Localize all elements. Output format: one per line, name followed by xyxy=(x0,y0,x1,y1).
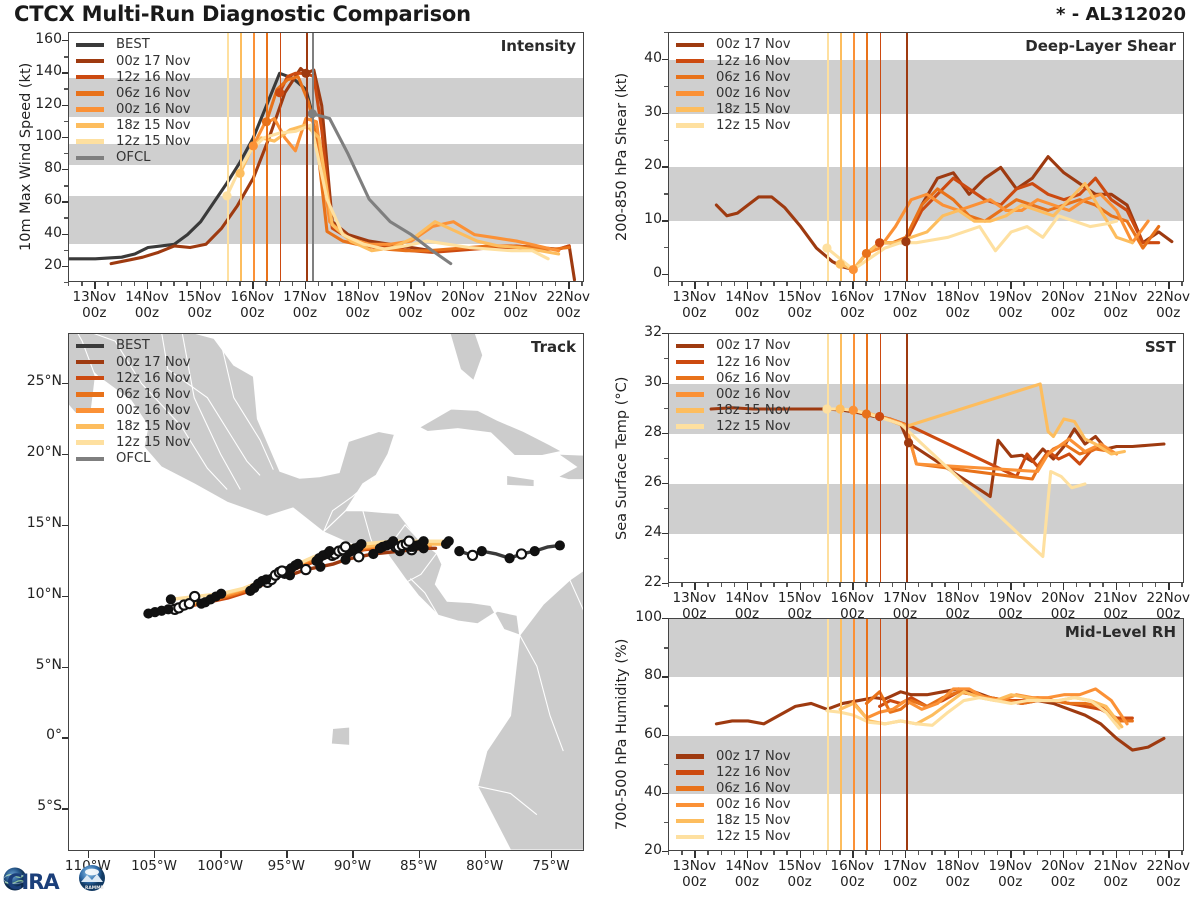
x-minor-tick xyxy=(1023,282,1024,286)
svg-text:RAMMB: RAMMB xyxy=(85,885,105,891)
x-minor-tick xyxy=(879,851,880,855)
x-tick-mark xyxy=(252,282,253,289)
y-minor-tick xyxy=(64,88,68,89)
legend-swatch-12z-16-nov xyxy=(76,376,104,380)
x-minor-tick xyxy=(1102,851,1103,855)
y-tick-mark xyxy=(62,234,68,235)
x-minor-tick xyxy=(134,282,135,286)
y-tick-mark xyxy=(662,59,668,60)
init-time-line xyxy=(866,33,868,281)
legend-row: 00z 16 Nov xyxy=(676,386,791,402)
x-minor-tick xyxy=(476,282,477,286)
x-minor-tick xyxy=(721,282,722,286)
legend-swatch-06z-16-nov xyxy=(676,75,704,79)
x-minor-tick xyxy=(918,282,919,286)
lat-tick-label: 0° xyxy=(12,727,62,743)
legend-label: 12z 16 Nov xyxy=(116,372,191,385)
legend-row: OFCL xyxy=(76,451,191,467)
x-minor-tick xyxy=(681,851,682,855)
panel-sst[interactable]: SST 00z 17 Nov12z 16 Nov06z 16 Nov00z 16… xyxy=(668,333,1184,583)
x-minor-tick xyxy=(1023,583,1024,587)
x-tick-mark xyxy=(1010,282,1011,289)
x-minor-tick xyxy=(1155,851,1156,855)
x-minor-tick xyxy=(668,282,669,286)
x-minor-tick xyxy=(1089,583,1090,587)
legend-label: 00z 17 Nov xyxy=(116,356,191,369)
legend-swatch-12z-15-nov xyxy=(76,440,104,444)
x-tick-mark xyxy=(1116,583,1117,590)
lon-tick-mark xyxy=(88,851,89,858)
x-tick-mark xyxy=(1168,282,1169,289)
x-tick-label: 22Nov00z xyxy=(530,290,606,322)
x-minor-tick xyxy=(918,583,919,587)
y-tick-mark xyxy=(662,433,668,434)
intensity-title: Intensity xyxy=(501,37,576,55)
panel-track[interactable]: Track BEST00z 17 Nov12z 16 Nov06z 16 Nov… xyxy=(68,333,584,851)
x-minor-tick xyxy=(707,851,708,855)
y-minor-tick xyxy=(64,217,68,218)
init-time-line xyxy=(880,619,882,850)
x-minor-tick xyxy=(292,282,293,286)
x-tick-hour: 00z xyxy=(135,305,159,321)
x-tick-hour: 00z xyxy=(945,874,969,890)
x-minor-tick xyxy=(839,583,840,587)
x-minor-tick xyxy=(68,282,69,286)
x-tick-label: 22Nov00z xyxy=(1130,859,1200,891)
x-minor-tick xyxy=(1076,282,1077,286)
legend-label: 12z 16 Nov xyxy=(716,766,791,779)
x-minor-tick xyxy=(773,282,774,286)
y-minor-tick xyxy=(664,140,668,141)
x-tick-hour: 00z xyxy=(293,305,317,321)
legend-row: 00z 16 Nov xyxy=(76,101,191,117)
x-minor-tick xyxy=(813,851,814,855)
x-minor-tick xyxy=(721,851,722,855)
x-minor-tick xyxy=(931,851,932,855)
x-tick-day: 22Nov xyxy=(546,289,590,305)
track-title: Track xyxy=(531,338,576,356)
legend-swatch-06z-16-nov xyxy=(676,376,704,380)
x-minor-tick xyxy=(734,851,735,855)
x-tick-hour: 00z xyxy=(82,305,106,321)
legend-swatch-00z-17-nov xyxy=(676,43,704,47)
lat-tick-mark xyxy=(62,525,68,526)
x-minor-tick xyxy=(1142,282,1143,286)
init-time-line xyxy=(840,619,842,850)
x-minor-tick xyxy=(997,282,998,286)
x-tick-mark xyxy=(358,282,359,289)
init-time-line xyxy=(240,33,242,281)
lon-tick-mark xyxy=(154,851,155,858)
legend-label: OFCL xyxy=(116,452,151,465)
x-minor-tick xyxy=(865,282,866,286)
legend-label: 12z 16 Nov xyxy=(716,55,791,68)
x-minor-tick xyxy=(971,583,972,587)
legend-label: 00z 17 Nov xyxy=(116,55,191,68)
panel-rh[interactable]: Mid-Level RH 00z 17 Nov12z 16 Nov06z 16 … xyxy=(668,618,1184,851)
x-minor-tick xyxy=(121,282,122,286)
legend-swatch-12z-16-nov xyxy=(676,59,704,63)
lat-tick-label: 25°N xyxy=(12,373,62,389)
legend-swatch-18z-15-nov xyxy=(676,408,704,412)
legend-swatch-00z-17-nov xyxy=(676,344,704,348)
lon-tick-label: 85°W xyxy=(381,859,457,875)
y-minor-tick xyxy=(64,121,68,122)
x-tick-hour: 00z xyxy=(893,305,917,321)
y-minor-tick xyxy=(664,32,668,33)
legend-label: 00z 17 Nov xyxy=(716,38,791,51)
legend-label: 12z 16 Nov xyxy=(116,71,191,84)
x-minor-tick xyxy=(826,851,827,855)
legend-row: 12z 15 Nov xyxy=(676,418,791,434)
x-tick-hour: 00z xyxy=(998,874,1022,890)
x-tick-hour: 00z xyxy=(787,305,811,321)
y-tick-label: 40 xyxy=(26,225,62,241)
x-minor-tick xyxy=(681,282,682,286)
legend-label: 00z 16 Nov xyxy=(716,87,791,100)
y-tick-label: 10 xyxy=(626,211,662,227)
x-minor-tick xyxy=(450,282,451,286)
x-tick-mark xyxy=(905,583,906,590)
x-minor-tick xyxy=(107,282,108,286)
rh-legend: 00z 17 Nov12z 16 Nov06z 16 Nov00z 16 Nov… xyxy=(676,748,791,845)
x-tick-mark xyxy=(694,851,695,858)
y-minor-tick xyxy=(664,247,668,248)
y-tick-label: 140 xyxy=(26,63,62,79)
x-tick-hour: 00z xyxy=(503,305,527,321)
x-minor-tick xyxy=(944,583,945,587)
x-tick-mark xyxy=(94,282,95,289)
lon-tick-label: 95°W xyxy=(248,859,324,875)
x-minor-tick xyxy=(971,851,972,855)
intensity-legend: BEST00z 17 Nov12z 16 Nov06z 16 Nov00z 16… xyxy=(76,37,191,166)
x-minor-tick xyxy=(226,282,227,286)
legend-row: BEST xyxy=(76,338,191,354)
legend-label: 06z 16 Nov xyxy=(716,71,791,84)
x-tick-hour: 00z xyxy=(1156,305,1180,321)
x-tick-label: 22Nov00z xyxy=(1130,290,1200,322)
y-tick-label: 22 xyxy=(626,574,662,590)
x-minor-tick xyxy=(542,282,543,286)
x-minor-tick xyxy=(1155,583,1156,587)
x-minor-tick xyxy=(760,851,761,855)
track-legend: BEST00z 17 Nov12z 16 Nov06z 16 Nov00z 16… xyxy=(76,338,191,467)
y-minor-tick xyxy=(664,822,668,823)
x-tick-mark xyxy=(516,282,517,289)
legend-row: 12z 15 Nov xyxy=(76,134,191,150)
y-tick-label: 0 xyxy=(626,265,662,281)
x-minor-tick xyxy=(502,282,503,286)
legend-label: 00z 17 Nov xyxy=(716,750,791,763)
legend-swatch-ofcl xyxy=(76,457,104,461)
x-tick-hour: 00z xyxy=(1051,305,1075,321)
x-tick-mark xyxy=(463,282,464,289)
sst-title: SST xyxy=(1145,338,1176,356)
lat-tick-label: 5°S xyxy=(12,798,62,814)
x-tick-hour: 00z xyxy=(893,874,917,890)
legend-label: 00z 16 Nov xyxy=(716,388,791,401)
y-tick-label: 160 xyxy=(26,31,62,47)
legend-row: 00z 17 Nov xyxy=(76,354,191,370)
lat-tick-mark xyxy=(62,454,68,455)
legend-row: 18z 15 Nov xyxy=(676,101,791,117)
legend-swatch-12z-16-nov xyxy=(76,75,104,79)
x-minor-tick xyxy=(984,282,985,286)
init-time-line xyxy=(853,334,855,582)
y-minor-tick xyxy=(664,705,668,706)
x-minor-tick xyxy=(1037,583,1038,587)
y-minor-tick xyxy=(664,193,668,194)
lon-tick-mark xyxy=(286,851,287,858)
y-minor-tick xyxy=(664,86,668,87)
legend-row: 00z 17 Nov xyxy=(676,338,791,354)
init-time-line xyxy=(227,33,229,281)
x-minor-tick xyxy=(997,583,998,587)
shear-legend: 00z 17 Nov12z 16 Nov06z 16 Nov00z 16 Nov… xyxy=(676,37,791,134)
y-tick-mark xyxy=(62,201,68,202)
sst-y-axis-label: Sea Surface Temp (°C) xyxy=(614,376,630,539)
init-time-line xyxy=(906,334,908,582)
legend-label: 12z 16 Nov xyxy=(716,356,791,369)
x-tick-mark xyxy=(905,851,906,858)
x-tick-mark xyxy=(305,282,306,289)
y-tick-label: 32 xyxy=(626,324,662,340)
y-tick-mark xyxy=(662,793,668,794)
x-minor-tick xyxy=(839,851,840,855)
x-minor-tick xyxy=(1102,282,1103,286)
y-tick-label: 100 xyxy=(26,128,62,144)
y-minor-tick xyxy=(664,408,668,409)
y-tick-mark xyxy=(662,333,668,334)
init-time-line xyxy=(866,334,868,582)
x-minor-tick xyxy=(773,583,774,587)
legend-row: 06z 16 Nov xyxy=(76,386,191,402)
legend-row: 18z 15 Nov xyxy=(676,402,791,418)
x-minor-tick xyxy=(1023,851,1024,855)
x-minor-tick xyxy=(997,851,998,855)
legend-row: 06z 16 Nov xyxy=(76,85,191,101)
x-tick-mark xyxy=(694,282,695,289)
init-time-line xyxy=(266,33,268,281)
y-tick-label: 20 xyxy=(626,842,662,858)
lon-tick-label: 105°W xyxy=(116,859,192,875)
y-minor-tick xyxy=(664,458,668,459)
legend-row: 12z 16 Nov xyxy=(76,69,191,85)
x-minor-tick xyxy=(760,282,761,286)
legend-swatch-00z-17-nov xyxy=(676,754,704,758)
x-minor-tick xyxy=(1076,583,1077,587)
x-minor-tick xyxy=(1076,851,1077,855)
x-minor-tick xyxy=(786,583,787,587)
y-tick-mark xyxy=(662,735,668,736)
x-minor-tick xyxy=(1050,851,1051,855)
x-minor-tick xyxy=(581,282,582,286)
x-minor-tick xyxy=(931,282,932,286)
x-tick-mark xyxy=(958,282,959,289)
x-tick-mark xyxy=(568,282,569,289)
legend-row: 00z 17 Nov xyxy=(676,37,791,53)
y-minor-tick xyxy=(664,358,668,359)
legend-row: 18z 15 Nov xyxy=(76,117,191,133)
x-minor-tick xyxy=(1181,282,1182,286)
x-minor-tick xyxy=(918,851,919,855)
x-minor-tick xyxy=(944,282,945,286)
y-minor-tick xyxy=(64,185,68,186)
y-tick-mark xyxy=(662,618,668,619)
lon-tick-mark xyxy=(220,851,221,858)
x-minor-tick xyxy=(865,851,866,855)
lat-tick-mark xyxy=(62,383,68,384)
legend-swatch-00z-17-nov xyxy=(76,360,104,364)
x-minor-tick xyxy=(371,282,372,286)
x-tick-mark xyxy=(1010,851,1011,858)
x-minor-tick xyxy=(931,583,932,587)
x-tick-mark xyxy=(147,282,148,289)
x-minor-tick xyxy=(1129,282,1130,286)
x-tick-mark xyxy=(410,282,411,289)
x-tick-mark xyxy=(747,282,748,289)
x-tick-mark xyxy=(694,583,695,590)
x-minor-tick xyxy=(879,583,880,587)
y-tick-label: 28 xyxy=(626,424,662,440)
lon-tick-label: 80°W xyxy=(447,859,523,875)
y-tick-label: 120 xyxy=(26,96,62,112)
init-time-line xyxy=(880,334,882,582)
legend-label: 18z 15 Nov xyxy=(716,103,791,116)
lon-tick-label: 75°W xyxy=(513,859,589,875)
x-minor-tick xyxy=(839,282,840,286)
x-tick-mark xyxy=(852,851,853,858)
lat-tick-label: 15°N xyxy=(12,515,62,531)
legend-label: OFCL xyxy=(116,151,151,164)
y-minor-tick xyxy=(64,250,68,251)
x-minor-tick xyxy=(1181,583,1182,587)
y-tick-label: 60 xyxy=(626,726,662,742)
y-tick-mark xyxy=(662,533,668,534)
lon-tick-mark xyxy=(551,851,552,858)
legend-row: 18z 15 Nov xyxy=(676,813,791,829)
y-tick-label: 20 xyxy=(26,257,62,273)
init-time-line xyxy=(280,33,282,281)
legend-row: OFCL xyxy=(76,150,191,166)
y-tick-mark xyxy=(662,166,668,167)
y-tick-label: 40 xyxy=(626,784,662,800)
y-tick-label: 60 xyxy=(26,192,62,208)
init-time-line xyxy=(253,33,255,281)
legend-label: 06z 16 Nov xyxy=(116,388,191,401)
x-minor-tick xyxy=(529,282,530,286)
legend-swatch-06z-16-nov xyxy=(76,91,104,95)
legend-label: 00z 16 Nov xyxy=(116,103,191,116)
y-tick-mark xyxy=(662,676,668,677)
x-minor-tick xyxy=(707,583,708,587)
x-tick-hour: 00z xyxy=(682,874,706,890)
lon-tick-mark xyxy=(352,851,353,858)
x-minor-tick xyxy=(1089,851,1090,855)
x-tick-mark xyxy=(1168,851,1169,858)
x-minor-tick xyxy=(892,583,893,587)
x-minor-tick xyxy=(984,583,985,587)
x-tick-day: 22Nov xyxy=(1146,590,1190,606)
lat-tick-label: 5°N xyxy=(12,657,62,673)
x-minor-tick xyxy=(786,282,787,286)
x-tick-hour: 00z xyxy=(398,305,422,321)
legend-row: 06z 16 Nov xyxy=(676,781,791,797)
legend-label: 00z 17 Nov xyxy=(716,339,791,352)
y-tick-mark xyxy=(662,220,668,221)
x-minor-tick xyxy=(423,282,424,286)
init-time-line xyxy=(827,334,829,582)
init-time-line xyxy=(827,33,829,281)
x-tick-mark xyxy=(958,851,959,858)
x-minor-tick xyxy=(892,851,893,855)
legend-swatch-00z-17-nov xyxy=(76,59,104,63)
legend-label: 18z 15 Nov xyxy=(716,404,791,417)
y-tick-label: 30 xyxy=(626,104,662,120)
init-time-line xyxy=(906,619,908,850)
x-minor-tick xyxy=(1181,851,1182,855)
x-tick-hour: 00z xyxy=(735,874,759,890)
legend-label: 12z 15 Nov xyxy=(716,830,791,843)
x-tick-hour: 00z xyxy=(451,305,475,321)
x-tick-mark xyxy=(1168,583,1169,590)
legend-swatch-00z-16-nov xyxy=(676,91,704,95)
legend-swatch-06z-16-nov xyxy=(676,786,704,790)
storm-id-label: * - AL312020 xyxy=(1056,4,1186,25)
x-minor-tick xyxy=(1050,583,1051,587)
legend-swatch-12z-15-nov xyxy=(676,424,704,428)
x-minor-tick xyxy=(944,851,945,855)
legend-swatch-best xyxy=(76,43,104,47)
x-minor-tick xyxy=(1129,583,1130,587)
y-tick-mark xyxy=(62,105,68,106)
y-tick-mark xyxy=(662,483,668,484)
y-tick-mark xyxy=(662,383,668,384)
x-tick-mark xyxy=(747,583,748,590)
init-time-line xyxy=(853,33,855,281)
y-tick-label: 26 xyxy=(626,474,662,490)
y-tick-mark xyxy=(62,40,68,41)
x-tick-mark xyxy=(1116,851,1117,858)
legend-swatch-18z-15-nov xyxy=(676,107,704,111)
x-minor-tick xyxy=(773,851,774,855)
x-minor-tick xyxy=(1102,583,1103,587)
lat-tick-mark xyxy=(62,667,68,668)
panel-intensity[interactable]: Intensity BEST00z 17 Nov12z 16 Nov06z 16… xyxy=(68,32,584,282)
legend-label: 06z 16 Nov xyxy=(116,87,191,100)
legend-row: 18z 15 Nov xyxy=(76,418,191,434)
y-minor-tick xyxy=(64,56,68,57)
shear-title: Deep-Layer Shear xyxy=(1025,37,1176,55)
legend-row: 12z 16 Nov xyxy=(676,53,791,69)
y-minor-tick xyxy=(664,508,668,509)
legend-swatch-18z-15-nov xyxy=(676,819,704,823)
x-minor-tick xyxy=(681,583,682,587)
legend-label: 18z 15 Nov xyxy=(116,420,191,433)
x-minor-tick xyxy=(173,282,174,286)
y-minor-tick xyxy=(64,153,68,154)
panel-shear[interactable]: Deep-Layer Shear 00z 17 Nov12z 16 Nov06z… xyxy=(668,32,1184,282)
legend-row: 12z 16 Nov xyxy=(676,765,791,781)
x-minor-tick xyxy=(239,282,240,286)
init-time-line xyxy=(306,33,308,281)
x-minor-tick xyxy=(971,282,972,286)
x-tick-hour: 00z xyxy=(1156,874,1180,890)
legend-row: 00z 16 Nov xyxy=(676,85,791,101)
x-tick-hour: 00z xyxy=(945,305,969,321)
x-minor-tick xyxy=(555,282,556,286)
legend-label: 00z 16 Nov xyxy=(716,798,791,811)
